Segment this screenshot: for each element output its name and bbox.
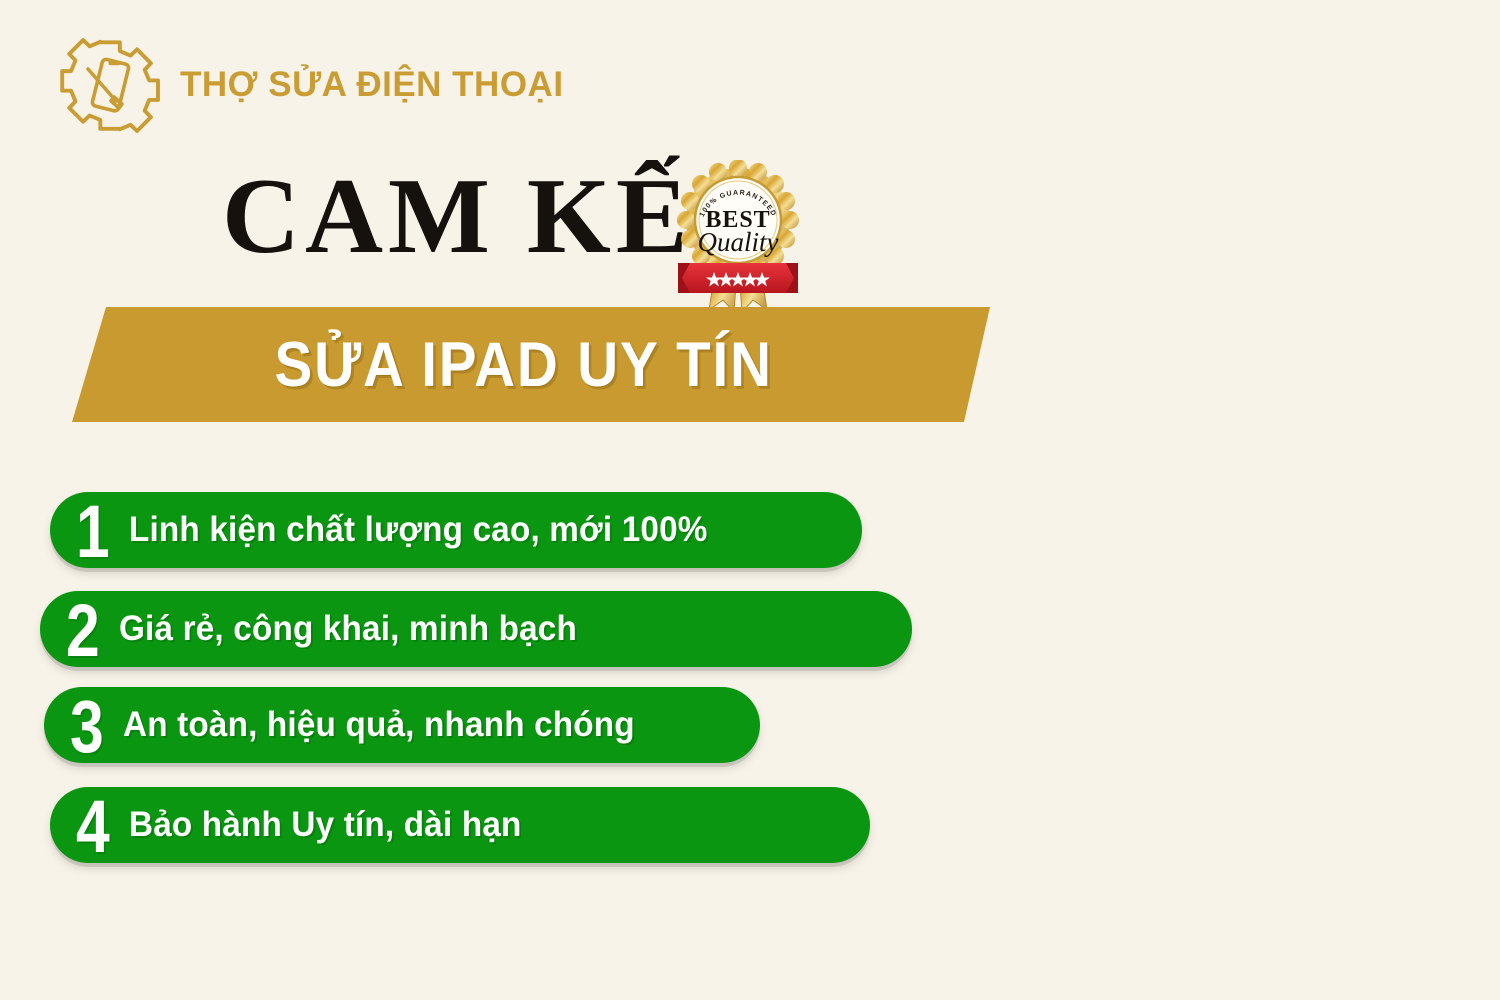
commitment-label-4: Bảo hành Uy tín, dài hạn (129, 805, 522, 845)
commitment-number-4: 4 (76, 790, 110, 864)
badge-quality-text: Quality (698, 227, 779, 257)
banner-title: SỬA IPAD UY TÍN (107, 307, 953, 422)
service-banner: SỬA IPAD UY TÍN (60, 307, 1000, 422)
best-quality-badge-icon: 100% GUARANTEED BEST Quality (676, 160, 800, 315)
commitment-number-2: 2 (66, 594, 100, 668)
brand-name: THỢ SỬA ĐIỆN THOẠI (180, 65, 564, 105)
commitment-item-4: 4 Bảo hành Uy tín, dài hạn (50, 787, 870, 863)
gear-phone-screwdriver-icon (58, 33, 162, 137)
brand-logo: THỢ SỬA ĐIỆN THOẠI (58, 33, 564, 137)
commitment-number-1: 1 (76, 495, 110, 569)
commitment-item-3: 3 An toàn, hiệu quả, nhanh chóng (44, 687, 760, 763)
commitment-item-2: 2 Giá rẻ, công khai, minh bạch (40, 591, 912, 667)
commitment-label-2: Giá rẻ, công khai, minh bạch (119, 609, 577, 649)
commitment-label-1: Linh kiện chất lượng cao, mới 100% (129, 510, 708, 550)
poster-canvas: THỢ SỬA ĐIỆN THOẠI CAM KẾT (0, 0, 1500, 1000)
commitment-number-3: 3 (70, 690, 104, 764)
commitment-item-1: 1 Linh kiện chất lượng cao, mới 100% (50, 492, 862, 568)
commitment-label-3: An toàn, hiệu quả, nhanh chóng (123, 705, 635, 745)
